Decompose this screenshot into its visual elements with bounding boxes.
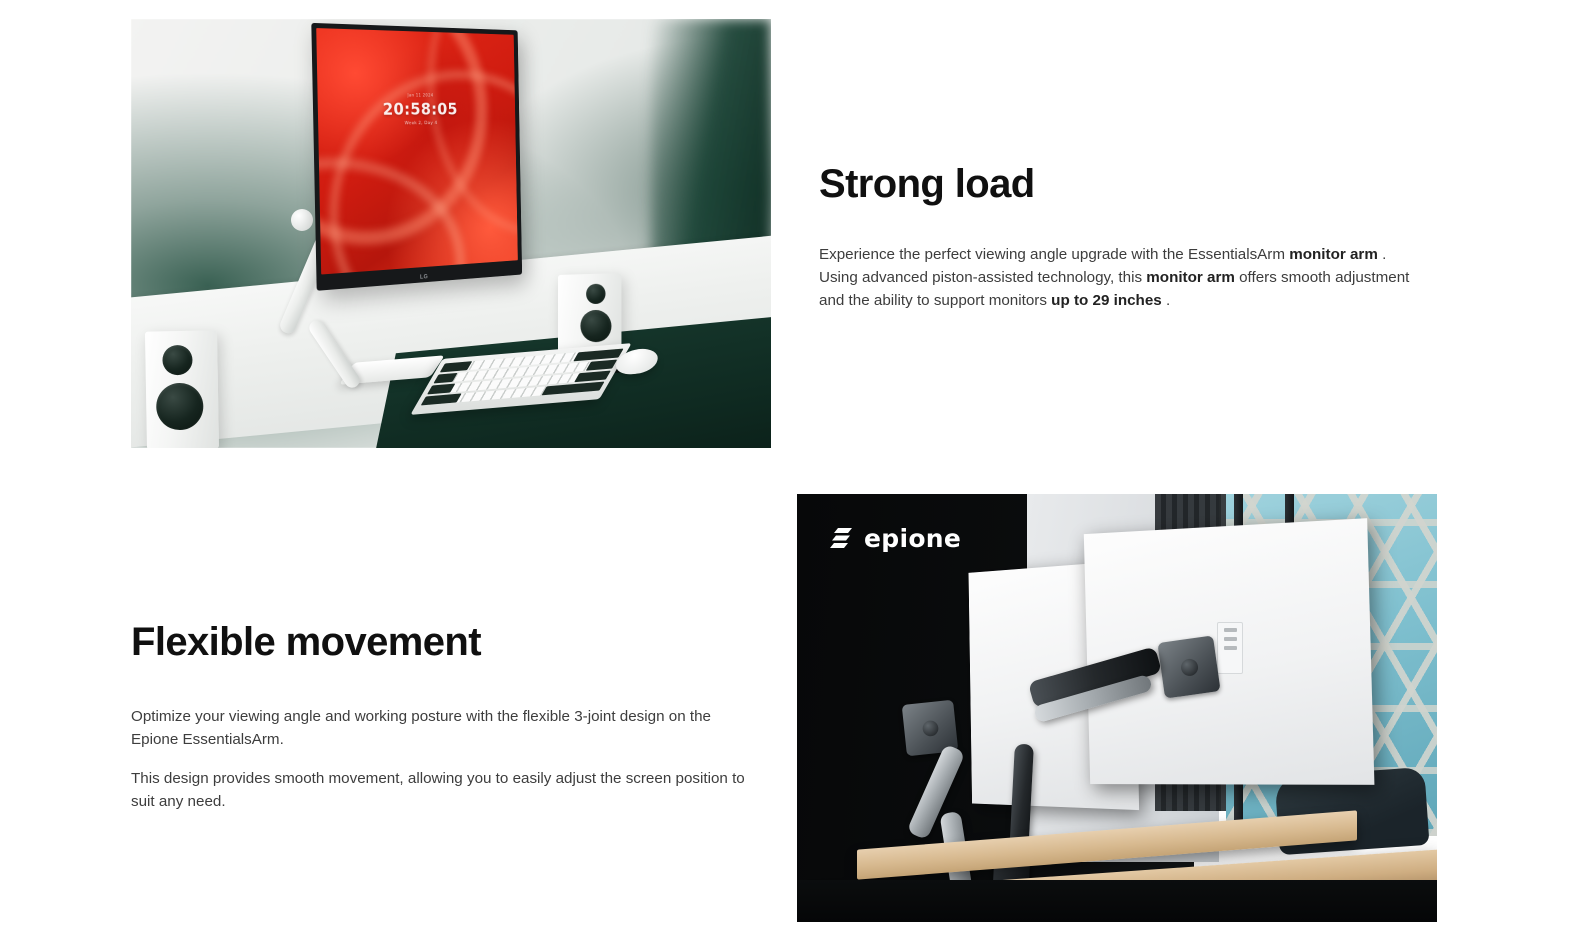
section-paragraph: This design provides smooth movement, al… xyxy=(131,767,756,813)
speaker-woofer xyxy=(580,310,611,343)
desk-with-red-screen-monitor-photo: Jan 11 2024 20:58:05 Week 2, Day 4 LG xyxy=(131,19,771,448)
under-desk-shadow xyxy=(797,880,1437,922)
body-text: Optimize your viewing angle and working … xyxy=(131,708,711,748)
screen-clock-widget: Jan 11 2024 20:58:05 Week 2, Day 4 xyxy=(318,92,516,127)
port-slot xyxy=(1224,637,1237,641)
clock-time: 20:58:05 xyxy=(318,100,516,119)
section-paragraph: Optimize your viewing angle and working … xyxy=(131,705,756,751)
dual-monitor-arms-photo: epione xyxy=(797,494,1437,922)
product-feature-page: Jan 11 2024 20:58:05 Week 2, Day 4 LG xyxy=(0,0,1573,940)
body-text: Experience the perfect viewing angle upg… xyxy=(819,246,1289,263)
keyboard-accent-key xyxy=(421,393,462,405)
speaker-woofer xyxy=(156,383,204,431)
keyboard-accent-key xyxy=(574,371,611,383)
speaker-tweeter xyxy=(162,345,193,376)
keyboard-accent-key xyxy=(427,384,455,395)
emphasis-text: monitor arm xyxy=(1289,246,1378,263)
monitor-arm-joint xyxy=(291,209,313,231)
keyboard-accent-key xyxy=(586,360,617,371)
lg-monitor: Jan 11 2024 20:58:05 Week 2, Day 4 LG xyxy=(311,23,522,291)
epione-wordmark: epione xyxy=(864,524,961,553)
body-text: This design provides smooth movement, al… xyxy=(131,770,745,810)
left-speaker xyxy=(145,330,219,448)
port-slot xyxy=(1224,646,1237,650)
port-slot xyxy=(1224,628,1237,632)
keyboard-accent-key xyxy=(440,361,473,372)
section-paragraph: Experience the perfect viewing angle upg… xyxy=(819,243,1419,312)
body-text: . xyxy=(1162,292,1170,309)
flexible-movement-copy-block: Flexible movement Optimize your viewing … xyxy=(131,620,756,813)
strong-load-copy-block: Strong load Experience the perfect viewi… xyxy=(819,162,1419,312)
emphasis-text: monitor arm xyxy=(1146,269,1235,286)
epione-logo-icon xyxy=(829,527,855,551)
emphasis-text: up to 29 inches xyxy=(1051,292,1162,309)
speaker-tweeter xyxy=(586,284,605,304)
keyboard-accent-key xyxy=(433,373,457,384)
right-vesa-mount xyxy=(1157,635,1220,698)
epione-watermark: epione xyxy=(829,524,961,553)
clock-date: Jan 11 2024 xyxy=(318,92,515,98)
monitor-port-panel xyxy=(1217,622,1243,674)
section-heading: Flexible movement xyxy=(131,620,756,665)
section-heading: Strong load xyxy=(819,162,1419,207)
monitor-screen: Jan 11 2024 20:58:05 Week 2, Day 4 xyxy=(316,28,518,274)
